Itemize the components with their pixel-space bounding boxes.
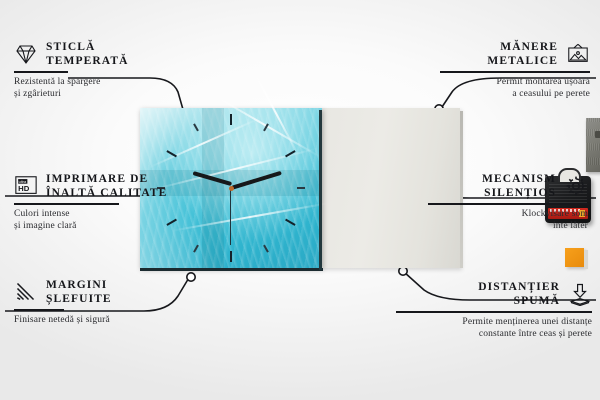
callout-header: MECANISMSILENȚIOS <box>428 172 588 200</box>
svg-text:HD: HD <box>18 184 30 193</box>
hotspot-foam <box>399 267 407 275</box>
diamond-icon <box>14 42 38 66</box>
callout-sticla-temperata[interactable]: STICLĂTEMPERATĂ Rezistentă la spargereși… <box>14 40 184 100</box>
ultra-hd-icon: ultra HD <box>14 174 38 198</box>
callout-manere-metalice[interactable]: MĂNEREMETALICE Permit montarea ușoarăa c… <box>400 40 590 100</box>
glass-side-edge <box>319 110 322 270</box>
callout-rule <box>14 71 68 73</box>
callout-subtitle: Rezistentă la spargereși zgârieturi <box>14 76 184 100</box>
callout-rule <box>428 203 588 205</box>
foam-spacer <box>565 248 584 267</box>
callout-rule <box>14 203 119 205</box>
infographic-stage: STICLĂTEMPERATĂ Rezistentă la spargereși… <box>0 0 600 400</box>
callout-distantier-spuma[interactable]: DISTANȚIERSPUMĂ Permite menținerea unei … <box>392 280 592 340</box>
callout-subtitle: Permite menținerea unei distanțeconstant… <box>392 316 592 340</box>
polished-edges-icon <box>14 280 38 304</box>
callout-rule <box>14 309 64 311</box>
callout-imprimare-inalta-calitate[interactable]: ultra HD IMPRIMARE DEÎNALTĂ CALITATE Cul… <box>14 172 199 232</box>
callout-mecanism-silentios[interactable]: MECANISMSILENȚIOS Klockvisare sominte lå… <box>428 172 588 232</box>
metal-hanger-plate <box>586 118 600 172</box>
callout-subtitle: Finisare netedă și sigură <box>14 314 184 326</box>
callout-header: ultra HD IMPRIMARE DEÎNALTĂ CALITATE <box>14 172 199 200</box>
second-hand <box>230 187 231 245</box>
callout-title: MĂNEREMETALICE <box>487 40 558 68</box>
hand-cap <box>229 186 234 191</box>
dial-tick <box>230 114 232 188</box>
callout-subtitle: Culori intenseși imagine clară <box>14 208 199 232</box>
callout-subtitle: Klockvisare sominte låter <box>428 208 588 232</box>
picture-hanger-icon <box>566 42 590 66</box>
callout-subtitle: Permit montarea ușoarăa ceasului pe pere… <box>400 76 590 100</box>
callout-title: IMPRIMARE DEÎNALTĂ CALITATE <box>46 172 167 200</box>
hanger-slot <box>595 131 600 138</box>
callout-rule <box>440 71 590 73</box>
foam-spacer-icon <box>568 282 592 306</box>
callout-title: STICLĂTEMPERATĂ <box>46 40 129 68</box>
callout-rule <box>396 311 592 313</box>
hotspot-edges <box>187 273 195 281</box>
callout-header: DISTANȚIERSPUMĂ <box>392 280 592 308</box>
callout-title: DISTANȚIERSPUMĂ <box>478 280 560 308</box>
dial-tick <box>231 187 305 189</box>
callout-margini-slefuite[interactable]: MARGINIȘLEFUITE Finisare netedă și sigur… <box>14 278 184 326</box>
callout-title: MECANISMSILENȚIOS <box>482 172 556 200</box>
glass-bottom-edge <box>140 268 323 271</box>
callout-title: MARGINIȘLEFUITE <box>46 278 112 306</box>
callout-header: STICLĂTEMPERATĂ <box>14 40 184 68</box>
callout-header: MĂNEREMETALICE <box>400 40 590 68</box>
gear-icon <box>564 174 588 198</box>
callout-header: MARGINIȘLEFUITE <box>14 278 184 306</box>
